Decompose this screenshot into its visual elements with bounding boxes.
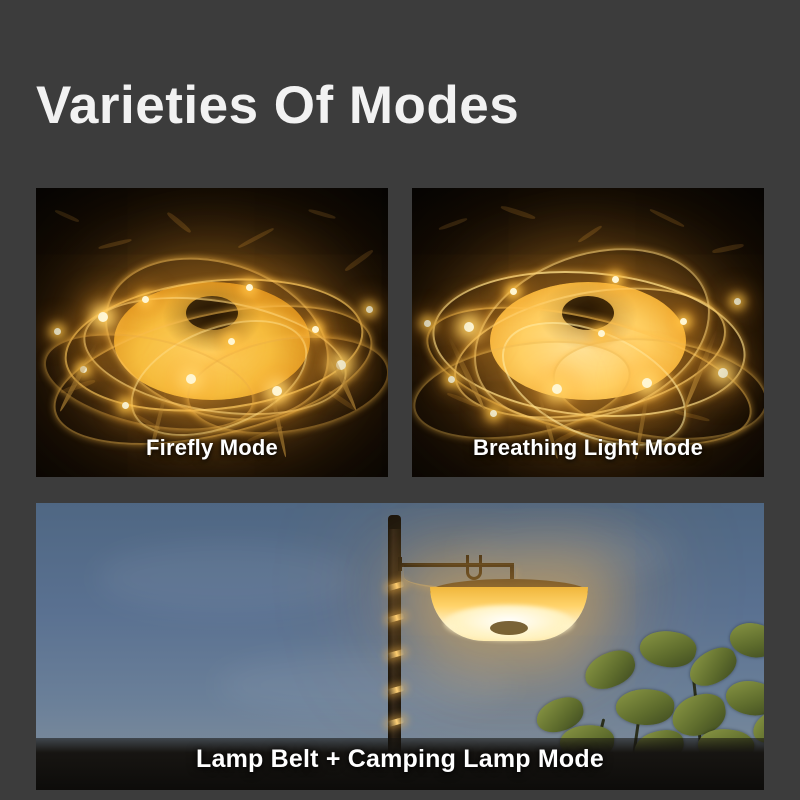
dusk-sky-scene xyxy=(36,503,764,790)
lamp-post-cap xyxy=(388,515,401,529)
product-feature-page: Varieties Of Modes xyxy=(0,0,800,800)
scene-vignette xyxy=(36,188,388,477)
mode-panel-lamp-belt-camping: Lamp Belt + Camping Lamp Mode xyxy=(36,503,764,790)
night-grass-scene xyxy=(36,188,388,477)
night-grass-scene xyxy=(412,188,764,477)
lamp-arm-upright xyxy=(398,557,402,571)
scene-vignette xyxy=(412,188,764,477)
lamp-center-hole xyxy=(490,621,528,635)
mode-panel-breathing-light: Breathing Light Mode xyxy=(412,188,764,477)
camping-lamp xyxy=(430,579,588,651)
leaf xyxy=(722,675,764,721)
leaf xyxy=(580,646,640,694)
mode-panel-firefly: Firefly Mode xyxy=(36,188,388,477)
ground-silhouette xyxy=(36,738,764,790)
page-title: Varieties Of Modes xyxy=(36,78,519,134)
leaf xyxy=(614,686,675,728)
leaf xyxy=(637,626,699,673)
